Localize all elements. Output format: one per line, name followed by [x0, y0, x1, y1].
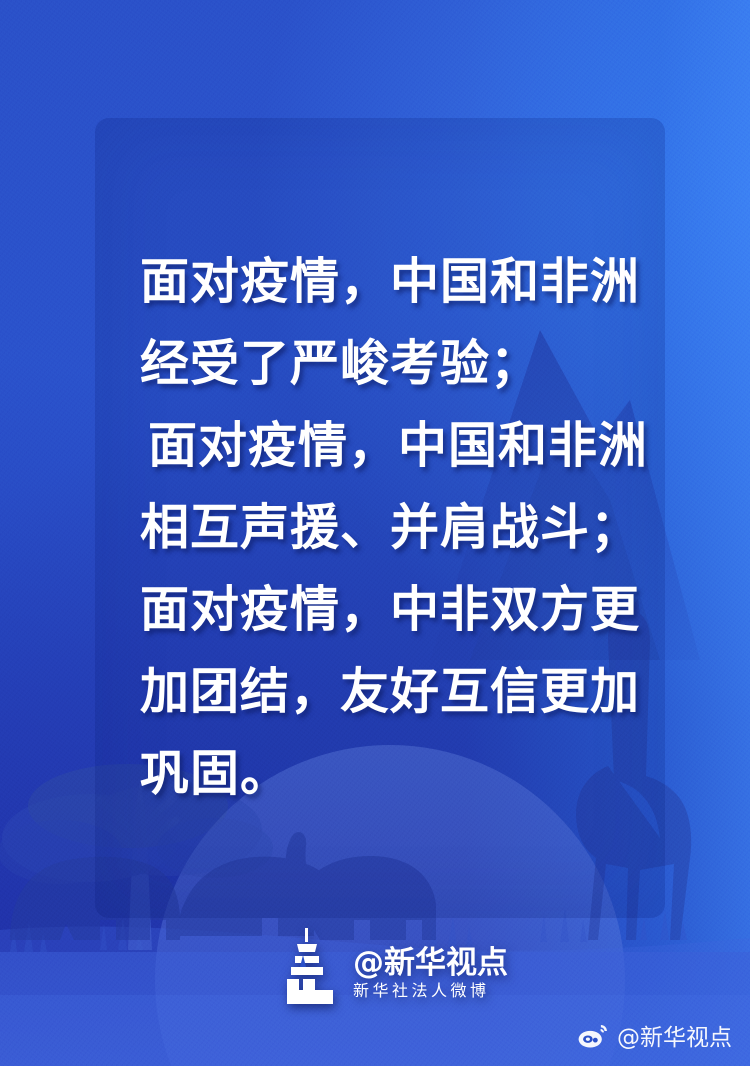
weibo-watermark: @新华视点 — [578, 1018, 732, 1052]
xinhua-logo-text: @新华视点 新华社法人微博 — [353, 946, 508, 1004]
xinhua-tower-emblem-icon — [277, 928, 341, 1004]
headline-line-4: 相互声援、并肩战斗； — [140, 486, 680, 568]
headline-line-6: 加团结，友好互信更加 — [140, 650, 680, 732]
watermark-handle: @新华视点 — [617, 1018, 732, 1052]
headline-block: 面对疫情，中国和非洲 经受了严峻考验； 面对疫情，中国和非洲 相互声援、并肩战斗… — [140, 240, 680, 814]
logo-subtitle: 新华社法人微博 — [353, 980, 508, 1002]
logo-title: @新华视点 — [353, 946, 508, 980]
headline-line-3: 面对疫情，中国和非洲 — [140, 404, 680, 486]
xinhua-logo-block: @新华视点 新华社法人微博 — [277, 928, 508, 1004]
headline-line-5: 面对疫情，中非双方更 — [140, 568, 680, 650]
headline-line-1: 面对疫情，中国和非洲 — [140, 240, 680, 322]
headline-line-7: 巩固。 — [140, 732, 680, 814]
headline-line-2: 经受了严峻考验； — [140, 322, 680, 404]
poster-root: 面对疫情，中国和非洲 经受了严峻考验； 面对疫情，中国和非洲 相互声援、并肩战斗… — [0, 0, 750, 1066]
weibo-icon — [578, 1022, 608, 1048]
